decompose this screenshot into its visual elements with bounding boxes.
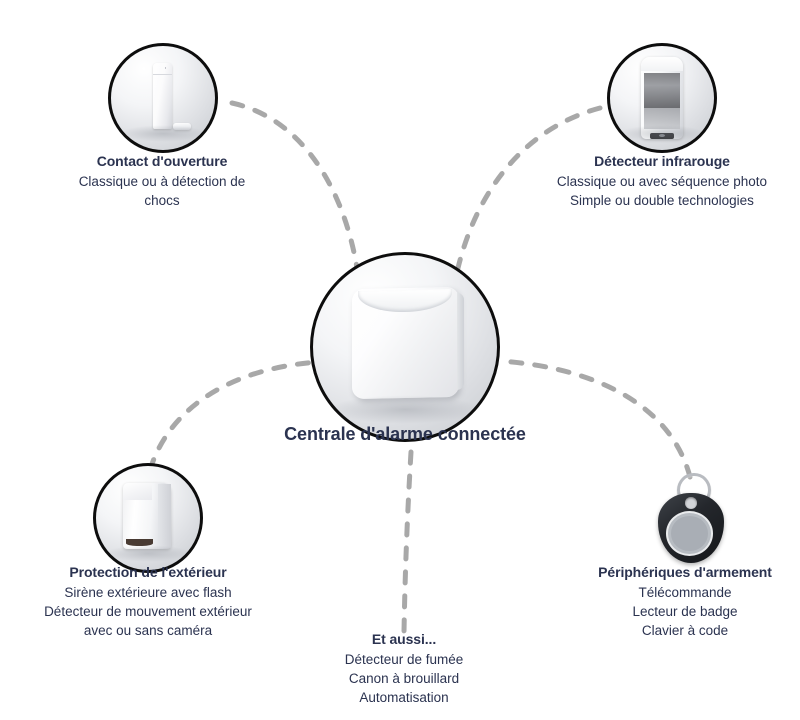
detector-cap — [641, 57, 683, 71]
node-title: Détecteur infrarouge — [528, 152, 796, 170]
node-line: Canon à brouillard — [284, 669, 524, 688]
node-line: Lecteur de badge — [570, 602, 800, 621]
node-line: Simple ou double technologies — [528, 191, 796, 210]
node-line: Classique ou à détection de — [28, 172, 296, 191]
alarm-panel-icon[interactable] — [310, 252, 500, 442]
door-contact-sensor-scene — [111, 46, 215, 150]
node-line: chocs — [28, 191, 296, 210]
outdoor-siren-scene — [96, 466, 200, 570]
node-lines: Sirène extérieure avec flash Détecteur d… — [14, 583, 282, 640]
detector-lower-lens — [644, 108, 679, 129]
panel-body — [352, 287, 459, 400]
node-title: Et aussi... — [284, 630, 524, 648]
label-contact-ouverture: Contact d'ouverture Classique ou à détec… — [28, 152, 296, 210]
node-lines: Classique ou à détection de chocs — [28, 172, 296, 210]
keyfob-badge-icon[interactable] — [655, 473, 727, 563]
pir-motion-detector-scene — [610, 46, 714, 150]
detector-lens — [644, 73, 679, 108]
node-line: Classique ou avec séquence photo — [528, 172, 796, 191]
door-contact-sensor-icon[interactable] — [108, 43, 218, 153]
outdoor-siren-icon[interactable] — [93, 463, 203, 573]
node-title: Périphériques d'armement — [570, 563, 800, 581]
pir-motion-detector-icon[interactable] — [607, 43, 717, 153]
center-title: Centrale d'alarme connectée — [255, 422, 555, 446]
node-line: Sirène extérieure avec flash — [14, 583, 282, 602]
keyfob-disc — [666, 511, 714, 556]
link-to-et-aussi — [404, 452, 411, 632]
label-detecteur-infrarouge: Détecteur infrarouge Classique ou avec s… — [528, 152, 796, 210]
detector-foot — [650, 133, 675, 138]
sensor-magnet — [173, 123, 191, 130]
node-line: Détecteur de fumée — [284, 650, 524, 669]
label-et-aussi: Et aussi... Détecteur de fumée Canon à b… — [284, 630, 524, 707]
node-line: Automatisation — [284, 688, 524, 707]
node-line: avec ou sans caméra — [14, 621, 282, 640]
siren-vent — [126, 539, 153, 546]
siren-bevel — [123, 483, 152, 501]
node-line: Télécommande — [570, 583, 800, 602]
label-peripheriques-armement: Périphériques d'armement Télécommande Le… — [570, 563, 800, 640]
link-to-peripheriques-armement — [500, 361, 690, 477]
node-lines: Télécommande Lecteur de badge Clavier à … — [570, 583, 800, 640]
label-centrale-alarme: Centrale d'alarme connectée — [255, 422, 555, 446]
siren-side-edge — [158, 484, 170, 548]
node-lines: Détecteur de fumée Canon à brouillard Au… — [284, 650, 524, 707]
node-title: Contact d'ouverture — [28, 152, 296, 170]
node-lines: Classique ou avec séquence photo Simple … — [528, 172, 796, 210]
link-to-protection-exterieur — [150, 362, 318, 470]
sensor-body — [153, 63, 173, 130]
alarm-panel-scene — [313, 255, 497, 439]
node-title: Protection de l'extérieur — [14, 563, 282, 581]
node-line: Clavier à code — [570, 621, 800, 640]
diagram-canvas: Contact d'ouverture Classique ou à détec… — [0, 0, 800, 720]
node-line: Détecteur de mouvement extérieur — [14, 602, 282, 621]
label-protection-exterieur: Protection de l'extérieur Sirène extérie… — [14, 563, 282, 640]
